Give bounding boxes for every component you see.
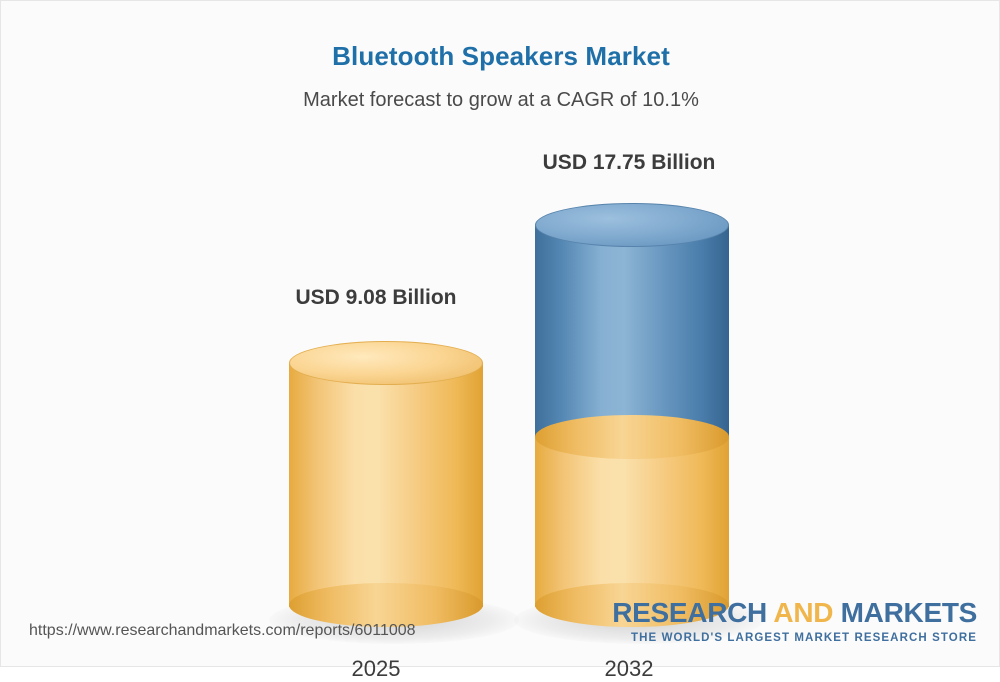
bar-2032-top [535, 203, 729, 247]
logo-word-and: AND [773, 597, 833, 628]
brand-logo-tagline: THE WORLD'S LARGEST MARKET RESEARCH STOR… [612, 632, 977, 644]
cylinder-bar-chart: USD 9.08 Billion 2025 USD 17.75 Billion [1, 131, 1000, 571]
brand-logo: RESEARCH AND MARKETS THE WORLD'S LARGEST… [612, 597, 977, 644]
bar-2025-top [289, 341, 483, 385]
bar-2025-body [289, 363, 483, 607]
source-url[interactable]: https://www.researchandmarkets.com/repor… [29, 622, 416, 640]
bar-2025 [289, 341, 483, 629]
data-label-2032: USD 17.75 Billion [459, 151, 799, 175]
brand-logo-wordmark: RESEARCH AND MARKETS [612, 597, 977, 629]
bar-2032-upper-body [535, 225, 729, 437]
chart-page: Bluetooth Speakers Market Market forecas… [0, 0, 1000, 667]
logo-word-research: RESEARCH [612, 597, 767, 628]
bar-2032-lower-body [535, 435, 729, 607]
page-subtitle: Market forecast to grow at a CAGR of 10.… [1, 89, 1000, 112]
page-title: Bluetooth Speakers Market [1, 41, 1000, 72]
logo-word-markets: MARKETS [841, 597, 977, 628]
bar-2032 [535, 203, 729, 629]
bar-2025-bottom [289, 583, 483, 627]
category-label-2032: 2032 [459, 656, 799, 682]
data-label-2025: USD 9.08 Billion [206, 286, 546, 310]
bar-2032-divider [535, 415, 729, 459]
